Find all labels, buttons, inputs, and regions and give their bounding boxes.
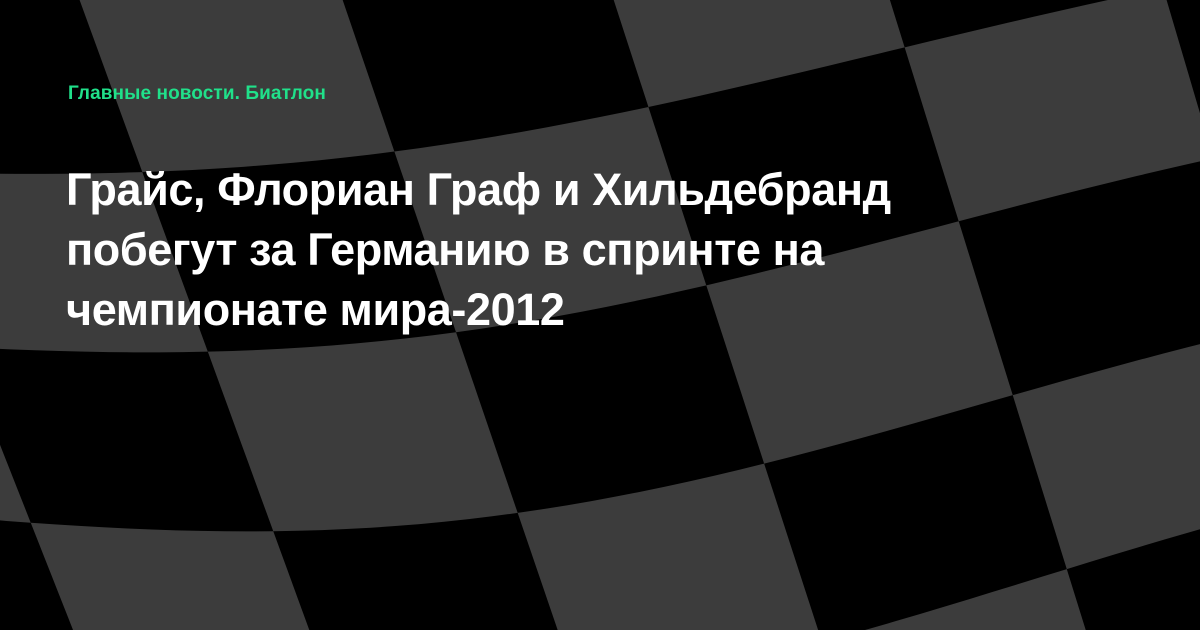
card-kicker: Главные новости. Биатлон <box>68 82 326 106</box>
headline-line-2: побегут за Германию в спринте на <box>66 220 1046 280</box>
headline-line-1: Грайс, Флориан Граф и Хильдебранд <box>66 160 1046 220</box>
news-share-card: Главные новости. Биатлон Грайс, Флориан … <box>0 0 1200 630</box>
headline-line-3: чемпионате мира-2012 <box>66 280 1046 340</box>
page-title: Грайс, Флориан Граф и Хильдебранд побегу… <box>66 160 1046 340</box>
